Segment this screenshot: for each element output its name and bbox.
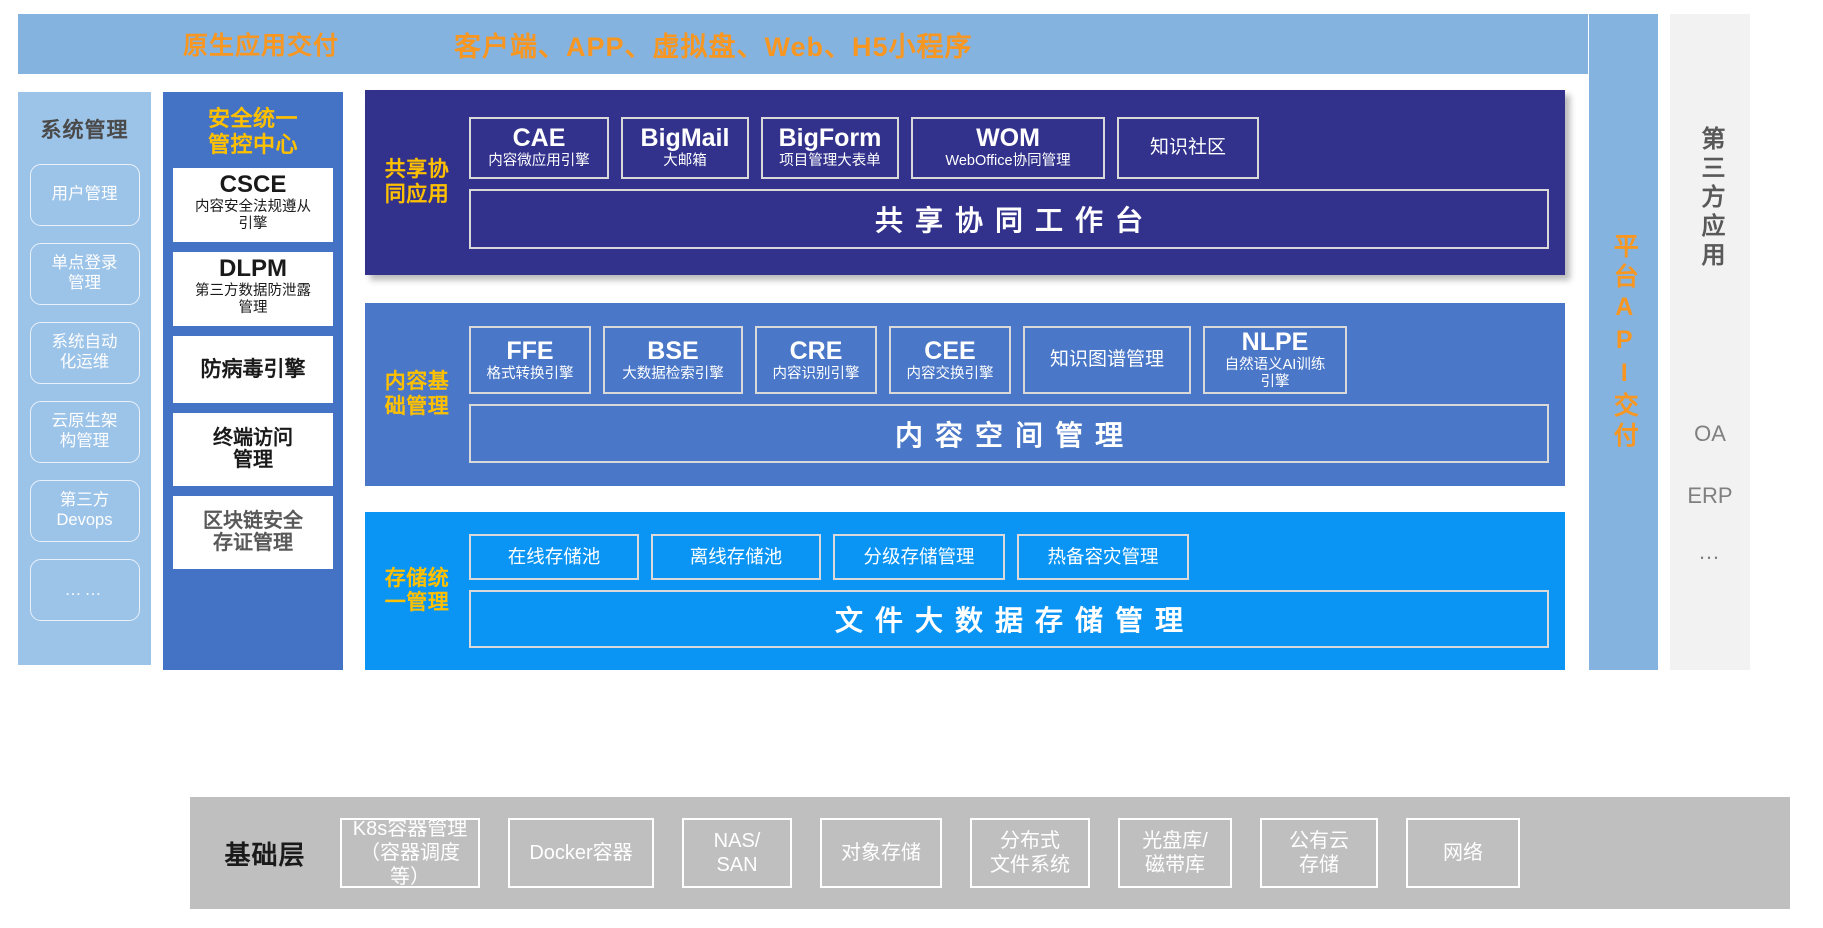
band-shared-collaboration: 共享协同应用 CAE 内容微应用引擎 BigMail 大邮箱 BigForm 项…	[365, 90, 1565, 275]
infra-chip-optical-tape-library[interactable]: 光盘库/磁带库	[1118, 818, 1232, 888]
chip-wom[interactable]: WOM WebOffice协同管理	[911, 117, 1105, 179]
chip-hot-standby-dr[interactable]: 热备容灾管理	[1017, 534, 1189, 580]
chip-code: BigMail	[641, 125, 730, 152]
chip-desc: WebOffice协同管理	[945, 153, 1070, 170]
third-party-item-oa: OA	[1694, 421, 1726, 447]
sysmgmt-item-devops[interactable]: 第三方Devops	[30, 480, 140, 542]
chip-row-shared-collaboration: CAE 内容微应用引擎 BigMail 大邮箱 BigForm 项目管理大表单 …	[469, 117, 1549, 179]
third-party-column: 第三方应用 OA ERP …	[1670, 14, 1750, 670]
chip-online-storage-pool[interactable]: 在线存储池	[469, 534, 639, 580]
sysmgmt-item-sso[interactable]: 单点登录管理	[30, 243, 140, 305]
wide-bar-shared-workbench[interactable]: 共享协同工作台	[469, 189, 1549, 249]
third-party-item-erp: ERP	[1687, 483, 1732, 509]
chip-knowledge-community[interactable]: 知识社区	[1117, 117, 1259, 179]
chip-desc: 内容交换引擎	[907, 366, 994, 383]
chip-ffe[interactable]: FFE 格式转换引擎	[469, 326, 591, 394]
infra-chip-distributed-fs[interactable]: 分布式文件系统	[970, 818, 1090, 888]
chip-knowledge-graph[interactable]: 知识图谱管理	[1023, 326, 1191, 394]
chip-code: 知识图谱管理	[1050, 349, 1164, 370]
infrastructure-title: 基础层	[190, 835, 340, 872]
security-item-dlpm[interactable]: DLPM 第三方数据防泄露管理	[173, 252, 333, 326]
top-banner: 原生应用交付 客户端、APP、虚拟盘、Web、H5小程序	[18, 14, 1588, 74]
band-label-content-foundation: 内容基础管理	[365, 303, 469, 486]
chip-code: NLPE	[1242, 329, 1309, 356]
chip-code: 离线存储池	[690, 547, 783, 568]
security-item-code: 终端访问管理	[213, 427, 293, 472]
chip-bse[interactable]: BSE 大数据检索引擎	[603, 326, 743, 394]
infra-chip-label: NAS/SAN	[714, 829, 761, 877]
infra-chip-nas-san[interactable]: NAS/SAN	[682, 818, 792, 888]
top-banner-left-label: 原生应用交付	[183, 26, 339, 62]
chip-cre[interactable]: CRE 内容识别引擎	[755, 326, 877, 394]
wide-bar-content-space[interactable]: 内容空间管理	[469, 404, 1549, 463]
chip-code: 热备容灾管理	[1047, 547, 1158, 568]
security-center-column: 安全统一管控中心 CSCE 内容安全法规遵从引擎 DLPM 第三方数据防泄露管理…	[163, 92, 343, 670]
third-party-item-more: …	[1698, 539, 1722, 565]
architecture-diagram: 原生应用交付 客户端、APP、虚拟盘、Web、H5小程序 系统管理 用户管理 单…	[0, 0, 1823, 928]
chip-desc: 大数据检索引擎	[622, 366, 724, 383]
security-item-desc: 第三方数据防泄露管理	[175, 283, 331, 317]
chip-bigform[interactable]: BigForm 项目管理大表单	[761, 117, 899, 179]
chip-cee[interactable]: CEE 内容交换引擎	[889, 326, 1011, 394]
platform-api-column: 平台API交付	[1589, 14, 1658, 670]
chip-nlpe[interactable]: NLPE 自然语义AI训练引擎	[1203, 326, 1347, 394]
security-item-code: 区块链安全存证管理	[203, 510, 303, 555]
sysmgmt-item-label: ……	[65, 580, 105, 600]
chip-code: WOM	[976, 125, 1040, 152]
chip-bigmail[interactable]: BigMail 大邮箱	[621, 117, 749, 179]
sysmgmt-item-label: 第三方Devops	[57, 491, 113, 531]
top-banner-right-label: 客户端、APP、虚拟盘、Web、H5小程序	[454, 25, 973, 64]
wide-bar-file-bigdata-storage[interactable]: 文件大数据存储管理	[469, 590, 1549, 648]
sysmgmt-item-label: 单点登录管理	[52, 254, 118, 294]
chip-code: CEE	[924, 338, 975, 365]
chip-desc: 项目管理大表单	[779, 153, 881, 170]
infrastructure-layer: 基础层 K8s容器管理（容器调度等） Docker容器 NAS/SAN 对象存储…	[190, 797, 1790, 909]
security-item-blockchain[interactable]: 区块链安全存证管理	[173, 496, 333, 569]
chip-offline-storage-pool[interactable]: 离线存储池	[651, 534, 821, 580]
infra-chip-network[interactable]: 网络	[1406, 818, 1520, 888]
band-content-foundation: 内容基础管理 FFE 格式转换引擎 BSE 大数据检索引擎 CRE 内容识别引擎…	[365, 303, 1565, 486]
band-label-storage-unified: 存储统一管理	[365, 512, 469, 670]
sysmgmt-item-automation[interactable]: 系统自动化运维	[30, 322, 140, 384]
chip-code: CAE	[513, 125, 566, 152]
infra-chip-public-cloud-storage[interactable]: 公有云存储	[1260, 818, 1378, 888]
chip-row-storage: 在线存储池 离线存储池 分级存储管理 热备容灾管理	[469, 534, 1549, 580]
infra-chip-label: 光盘库/磁带库	[1142, 829, 1208, 877]
chip-desc: 内容微应用引擎	[488, 153, 590, 170]
sysmgmt-item-user[interactable]: 用户管理	[30, 164, 140, 226]
security-item-csce[interactable]: CSCE 内容安全法规遵从引擎	[173, 168, 333, 242]
chip-code: FFE	[506, 338, 553, 365]
security-item-code: DLPM	[175, 256, 331, 283]
chip-code: 知识社区	[1150, 137, 1226, 158]
infra-chip-label: 网络	[1443, 841, 1483, 865]
infra-chip-label: K8s容器管理（容器调度等）	[350, 817, 470, 889]
infra-chip-label: Docker容器	[529, 841, 632, 865]
chip-code: CRE	[790, 338, 843, 365]
chip-cae[interactable]: CAE 内容微应用引擎	[469, 117, 609, 179]
security-item-code: CSCE	[175, 172, 331, 199]
security-item-terminal-access[interactable]: 终端访问管理	[173, 413, 333, 486]
sysmgmt-item-label: 系统自动化运维	[52, 333, 118, 373]
infra-chip-label: 分布式文件系统	[990, 829, 1070, 877]
sysmgmt-item-cloud-native[interactable]: 云原生架构管理	[30, 401, 140, 463]
chip-desc: 内容识别引擎	[773, 366, 860, 383]
system-management-column: 系统管理 用户管理 单点登录管理 系统自动化运维 云原生架构管理 第三方Devo…	[18, 92, 151, 665]
platform-api-label: 平台API交付	[1606, 233, 1642, 452]
sysmgmt-item-label: 用户管理	[52, 185, 118, 205]
chip-row-content-foundation: FFE 格式转换引擎 BSE 大数据检索引擎 CRE 内容识别引擎 CEE 内容…	[469, 326, 1549, 394]
security-item-code: 防病毒引擎	[201, 358, 306, 382]
security-item-antivirus[interactable]: 防病毒引擎	[173, 336, 333, 403]
infra-chip-k8s[interactable]: K8s容器管理（容器调度等）	[340, 818, 480, 888]
sysmgmt-item-label: 云原生架构管理	[52, 412, 118, 452]
infra-chip-object-storage[interactable]: 对象存储	[820, 818, 942, 888]
chip-desc: 格式转换引擎	[487, 366, 574, 383]
chip-code: 在线存储池	[508, 547, 601, 568]
chip-code: BSE	[647, 338, 698, 365]
chip-code: BigForm	[779, 125, 882, 152]
infra-chip-docker[interactable]: Docker容器	[508, 818, 654, 888]
sysmgmt-item-more[interactable]: ……	[30, 559, 140, 621]
infra-chip-label: 对象存储	[841, 841, 921, 865]
security-center-title: 安全统一管控中心	[163, 106, 343, 158]
infra-chip-label: 公有云存储	[1289, 829, 1349, 877]
chip-code: 分级存储管理	[863, 547, 974, 568]
infrastructure-chip-row: K8s容器管理（容器调度等） Docker容器 NAS/SAN 对象存储 分布式…	[340, 818, 1790, 888]
band-label-shared-collaboration: 共享协同应用	[365, 90, 469, 275]
chip-desc: 自然语义AI训练引擎	[1225, 357, 1326, 390]
chip-tiered-storage[interactable]: 分级存储管理	[833, 534, 1005, 580]
system-management-title: 系统管理	[18, 114, 151, 144]
band-storage-unified: 存储统一管理 在线存储池 离线存储池 分级存储管理 热备容灾管理 文件大数据存储…	[365, 512, 1565, 670]
third-party-title: 第三方应用	[1695, 126, 1725, 271]
security-item-desc: 内容安全法规遵从引擎	[175, 199, 331, 233]
chip-desc: 大邮箱	[663, 153, 707, 170]
